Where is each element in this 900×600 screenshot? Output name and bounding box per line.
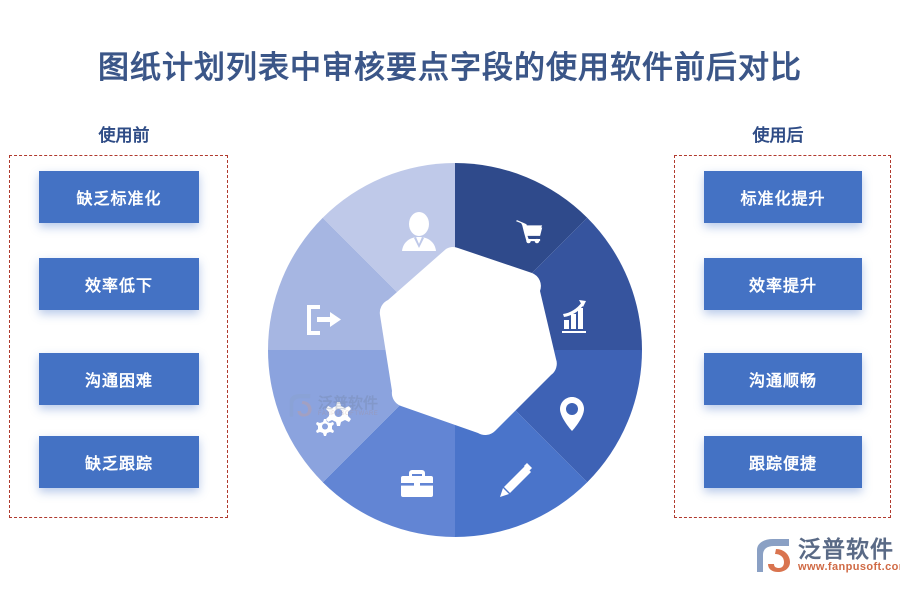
after-item-0[interactable]: 标准化提升 [704,171,862,223]
after-column-header: 使用后 [672,121,884,146]
brand-name: 泛普软件 [798,537,900,561]
before-column-header: 使用前 [20,121,228,146]
brand-logo: 泛普软件 www.fanpusoft.com [755,537,900,574]
before-item-1[interactable]: 效率低下 [39,258,199,310]
after-item-2[interactable]: 沟通顺畅 [704,353,862,405]
before-item-3[interactable]: 缺乏跟踪 [39,436,199,488]
page-title: 图纸计划列表中审核要点字段的使用软件前后对比 [0,42,900,87]
before-item-2[interactable]: 沟通困难 [39,353,199,405]
brand-url: www.fanpusoft.com [798,561,900,574]
poster-root: 图纸计划列表中审核要点字段的使用软件前后对比 使用前 缺乏标准化 效率低下 沟通… [0,0,900,600]
segmented-donut-chart [268,163,642,537]
after-item-1[interactable]: 效率提升 [704,258,862,310]
donut-svg [268,163,642,537]
before-item-0[interactable]: 缺乏标准化 [39,171,199,223]
after-item-3[interactable]: 跟踪便捷 [704,436,862,488]
brand-logo-icon [755,539,791,573]
